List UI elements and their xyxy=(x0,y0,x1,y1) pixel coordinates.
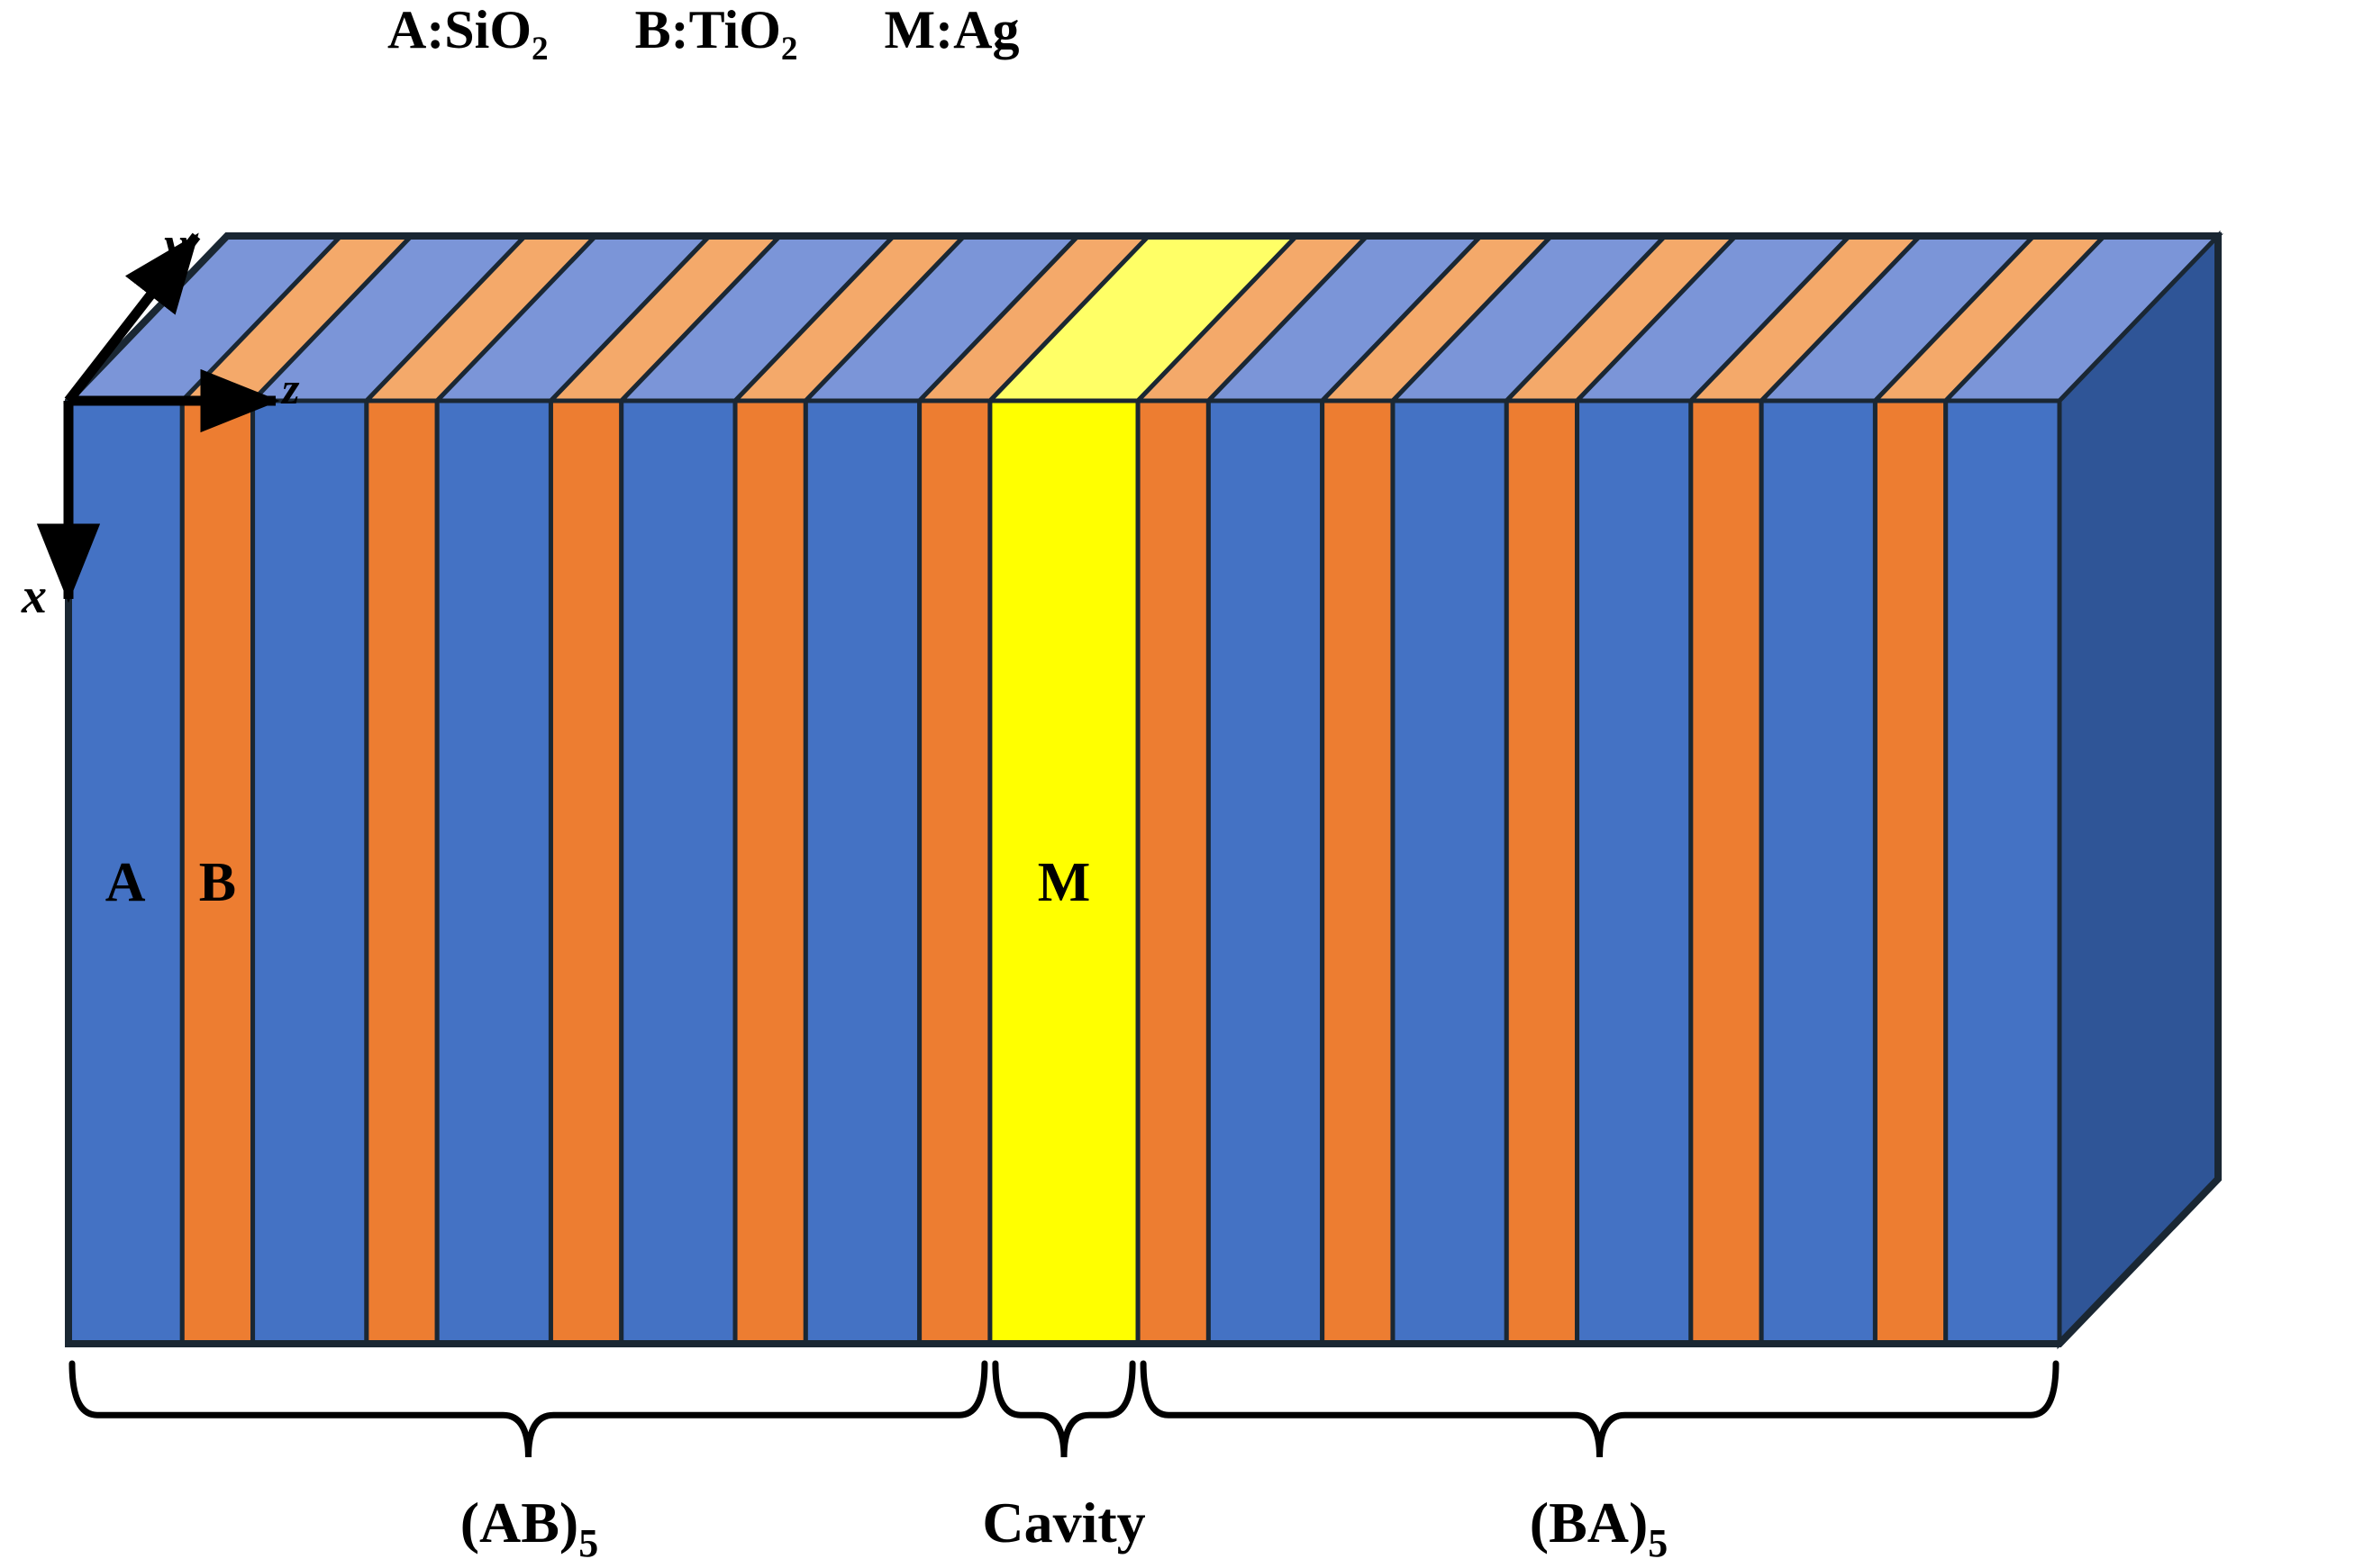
front-slab-a-14 xyxy=(1393,401,1506,1344)
layer-label-a: A xyxy=(105,852,146,913)
top-face-group xyxy=(68,236,2218,401)
front-slab-a-16 xyxy=(1577,401,1691,1344)
front-slab-b-17 xyxy=(1691,401,1761,1344)
photonic-crystal-svg: x y z A B M (AB)5 Cavity (BA)5 xyxy=(0,0,2373,1568)
brace-group xyxy=(72,1364,2056,1457)
z-axis-label: z xyxy=(280,363,300,413)
front-slab-b-9 xyxy=(920,401,990,1344)
brace-left xyxy=(72,1364,985,1457)
diagram-canvas: A:SiO2 B:TiO2 M:Ag x y z xyxy=(0,0,2373,1568)
brace-caption-group: (AB)5 Cavity (BA)5 xyxy=(460,1491,1668,1565)
front-slab-b-19 xyxy=(1875,401,1945,1344)
front-slab-a-12 xyxy=(1208,401,1322,1344)
brace-center xyxy=(996,1364,1132,1457)
brace-right-caption: (BA)5 xyxy=(1530,1491,1668,1565)
x-axis-label: x xyxy=(21,568,47,624)
front-slab-b-7 xyxy=(735,401,805,1344)
brace-right-sub: 5 xyxy=(1648,1521,1668,1565)
front-slab-b-3 xyxy=(367,401,437,1344)
brace-left-caption: (AB)5 xyxy=(460,1491,599,1565)
brace-left-text: (AB) xyxy=(460,1491,579,1554)
front-slab-a-6 xyxy=(622,401,735,1344)
brace-right xyxy=(1143,1364,2056,1457)
brace-left-sub: 5 xyxy=(578,1521,598,1565)
front-slab-b-13 xyxy=(1323,401,1393,1344)
front-slab-b-15 xyxy=(1506,401,1577,1344)
front-slab-a-2 xyxy=(253,401,367,1344)
layer-label-b: B xyxy=(199,852,236,913)
front-slab-b-5 xyxy=(550,401,621,1344)
front-slab-a-8 xyxy=(805,401,919,1344)
front-slab-a-18 xyxy=(1761,401,1875,1344)
side-face xyxy=(2059,236,2218,1344)
brace-right-text: (BA) xyxy=(1530,1491,1649,1554)
y-axis-label: y xyxy=(159,217,187,273)
layer-label-m: M xyxy=(1038,852,1091,913)
front-slab-a-20 xyxy=(1946,401,2059,1344)
front-slab-b-11 xyxy=(1138,401,1208,1344)
right-side-face xyxy=(2059,236,2218,1344)
front-slab-a-4 xyxy=(437,401,550,1344)
brace-center-caption: Cavity xyxy=(982,1491,1145,1554)
